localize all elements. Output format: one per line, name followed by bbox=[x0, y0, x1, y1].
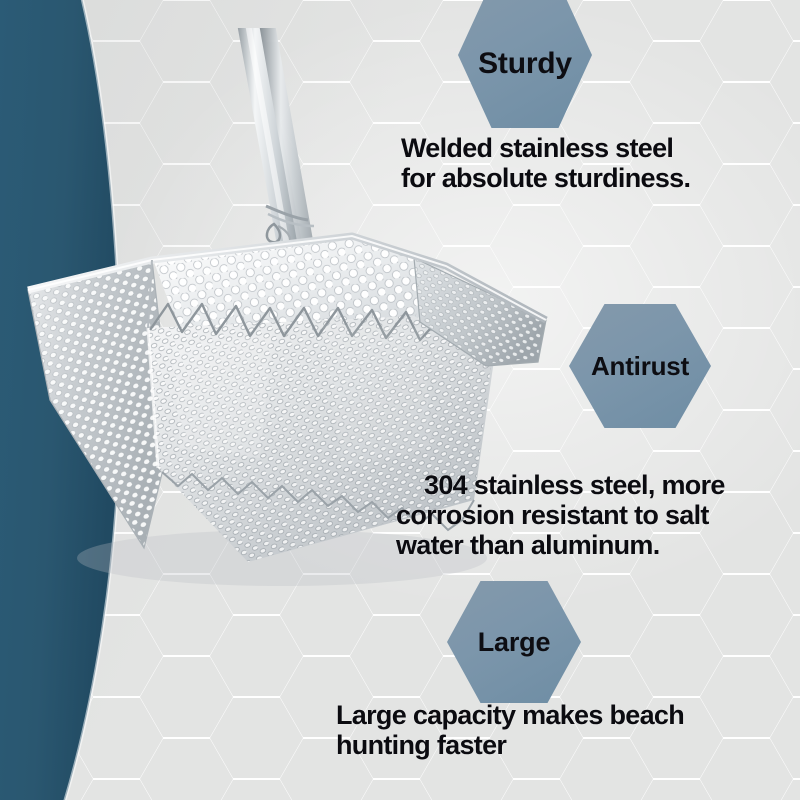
feature-description-sturdy: Welded stainless steel for absolute stur… bbox=[401, 133, 793, 193]
feature-description-antirust-rest: corrosion resistant to salt water than a… bbox=[396, 500, 709, 560]
hex-badge-label-antirust: Antirust bbox=[591, 353, 689, 379]
hex-badge-label-sturdy: Sturdy bbox=[478, 31, 572, 79]
hex-badge-label-large: Large bbox=[478, 629, 551, 656]
feature-description-large: Large capacity makes beach hunting faste… bbox=[336, 700, 788, 760]
feature-description-antirust: 304 stainless steel, morecorrosion resis… bbox=[396, 470, 800, 561]
feature-description-antirust-line1: 304 stainless steel, more bbox=[396, 470, 725, 500]
product-infographic-poster: Sturdy Welded stainless steel for absolu… bbox=[0, 0, 800, 800]
